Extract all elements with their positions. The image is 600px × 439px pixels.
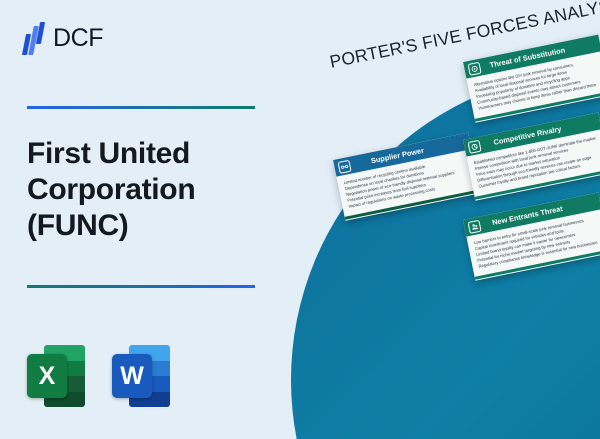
- link-chain-icon: [338, 160, 352, 174]
- recycle-circle-icon: [468, 62, 482, 76]
- user-group-icon: [468, 220, 482, 234]
- card-supplier-power[interactable]: Supplier Power Limited number of recycli…: [333, 132, 481, 220]
- card-new-entrants-threat[interactable]: New Entrants Threat Low barriers to entr…: [463, 192, 600, 280]
- five-forces-cards: Threat of Substitution Alternative optio…: [0, 0, 600, 439]
- card-threat-of-substitution[interactable]: Threat of Substitution Alternative optio…: [463, 34, 600, 122]
- pie-chart-icon: [468, 140, 482, 154]
- report-cover-page: DCF First United Corporation (FUNC) X W …: [0, 0, 600, 439]
- card-competitive-rivalry[interactable]: Competitive Rivalry Established competit…: [463, 112, 600, 200]
